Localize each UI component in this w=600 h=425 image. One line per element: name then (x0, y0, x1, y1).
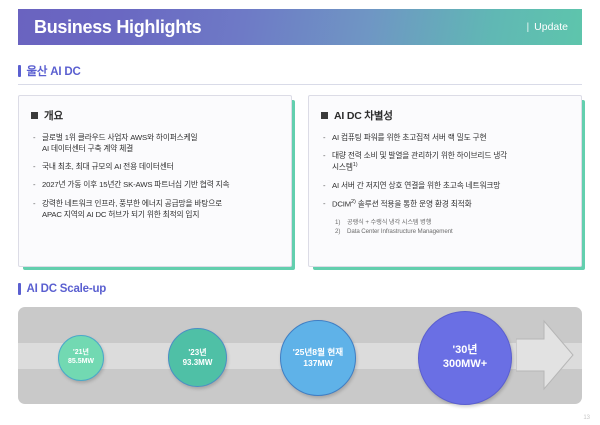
square-bullet-icon (321, 112, 328, 119)
section-heading-scaleup-label: AI DC Scale-up (27, 283, 107, 295)
card-overview: 개요 글로벌 1위 클라우드 사업자 AWS와 하이퍼스케일 AI 데이터센터 … (18, 95, 292, 267)
milestone-period: '23년 (188, 348, 206, 358)
cards-row: 개요 글로벌 1위 클라우드 사업자 AWS와 하이퍼스케일 AI 데이터센터 … (18, 95, 582, 267)
section-divider (18, 84, 582, 85)
bullet-line-1: 국내 최초, 최대 규모의 AI 전용 데이터센터 (42, 162, 174, 171)
bullet-line-2: AI 데이터센터 구축 계약 체결 (42, 143, 279, 154)
arrow-right-icon (516, 317, 574, 393)
scaleup-timeline: '21년 85.5MW '23년 93.3MW '25년8월 현재 137MW … (18, 307, 582, 404)
footnote-ref-1: 1) (353, 162, 358, 168)
section-ulsan-ai-dc: 울산 AI DC (18, 63, 582, 85)
section-heading-ulsan-label: 울산 AI DC (27, 63, 81, 79)
divider-glyph: | (526, 21, 529, 33)
heading-tick-icon (18, 283, 21, 295)
milestone-circle-4: '30년 300MW+ (418, 311, 512, 405)
card-differentiation-title: AI DC 차별성 (321, 108, 569, 123)
milestone-circle-1: '21년 85.5MW (58, 335, 104, 381)
card-differentiation: AI DC 차별성 AI 컴퓨팅 파워를 위한 초고집적 서버 랙 밀도 구현 … (308, 95, 582, 267)
update-badge: | Update (526, 21, 568, 33)
milestone-period: '21년 (73, 349, 89, 358)
heading-tick-icon (18, 65, 21, 77)
list-item: DCIM2) 솔루션 적용을 통한 운영 환경 최적화 (321, 198, 569, 210)
footnote-text: Data Center Infrastructure Management (347, 227, 453, 236)
bullet-line-1: AI 컴퓨팅 파워를 위한 초고집적 서버 랙 밀도 구현 (332, 133, 486, 142)
milestone-circle-2: '23년 93.3MW (168, 328, 227, 387)
milestone-capacity: 137MW (303, 358, 333, 369)
footnote-number: 1) (335, 218, 347, 227)
update-label: Update (534, 21, 568, 33)
bullet-line-1: 2027년 가동 이후 15년간 SK-AWS 파트너십 기반 협력 지속 (42, 180, 229, 189)
card-overview-title-label: 개요 (44, 108, 63, 123)
footnote-number: 2) (335, 227, 347, 236)
card-differentiation-bullet-list: AI 컴퓨팅 파워를 위한 초고집적 서버 랙 밀도 구현 대량 전력 소비 및… (321, 132, 569, 210)
bullet-line-2: 시스템 (332, 163, 353, 172)
card-overview-bullet-list: 글로벌 1위 클라우드 사업자 AWS와 하이퍼스케일 AI 데이터센터 구축 … (31, 132, 279, 220)
section-ai-dc-scale-up: AI DC Scale-up (18, 283, 582, 295)
milestone-capacity: 300MW+ (443, 358, 487, 372)
section-heading-scaleup: AI DC Scale-up (18, 283, 582, 295)
bullet-line-1-rest: 솔루션 적용을 통한 운영 환경 최적화 (356, 200, 472, 209)
milestone-capacity: 93.3MW (183, 358, 213, 368)
card-overview-title: 개요 (31, 108, 279, 123)
section-heading-ulsan: 울산 AI DC (18, 63, 582, 79)
card-differentiation-title-label: AI DC 차별성 (334, 108, 393, 123)
bullet-line-1: 대량 전력 소비 및 발열을 관리하기 위한 하이브리드 냉각 (332, 151, 507, 160)
bullet-line-1: 강력한 네트워크 인프라, 풍부한 에너지 공급망을 바탕으로 (42, 199, 222, 208)
milestone-circle-3: '25년8월 현재 137MW (280, 320, 356, 396)
bullet-line-1: DCIM (332, 200, 351, 209)
footnotes: 1) 공랭식 + 수랭식 냉각 시스템 병행 2) Data Center In… (321, 218, 569, 237)
footnote-text: 공랭식 + 수랭식 냉각 시스템 병행 (347, 218, 431, 227)
bullet-line-1: AI 서버 간 저지연 상호 연결을 위한 초고속 네트워크망 (332, 181, 500, 190)
page-number: 13 (583, 415, 590, 421)
list-item: 글로벌 1위 클라우드 사업자 AWS와 하이퍼스케일 AI 데이터센터 구축 … (31, 132, 279, 154)
list-item: AI 컴퓨팅 파워를 위한 초고집적 서버 랙 밀도 구현 (321, 132, 569, 143)
slide-title-bar: Business Highlights | Update (18, 9, 582, 45)
page-title: Business Highlights (34, 17, 201, 38)
bullet-line-1: 글로벌 1위 클라우드 사업자 AWS와 하이퍼스케일 (42, 133, 197, 142)
milestone-period: '30년 (453, 344, 478, 358)
square-bullet-icon (31, 112, 38, 119)
milestone-period: '25년8월 현재 (293, 347, 343, 358)
footnote-item: 2) Data Center Infrastructure Management (335, 227, 569, 236)
footnote-item: 1) 공랭식 + 수랭식 냉각 시스템 병행 (335, 218, 569, 227)
list-item: 대량 전력 소비 및 발열을 관리하기 위한 하이브리드 냉각 시스템1) (321, 150, 569, 173)
list-item: 2027년 가동 이후 15년간 SK-AWS 파트너십 기반 협력 지속 (31, 179, 279, 190)
milestone-capacity: 85.5MW (68, 358, 94, 367)
list-item: AI 서버 간 저지연 상호 연결을 위한 초고속 네트워크망 (321, 180, 569, 191)
bullet-line-2: APAC 지역의 AI DC 허브가 되기 위한 최적의 입지 (42, 209, 279, 220)
list-item: 국내 최초, 최대 규모의 AI 전용 데이터센터 (31, 161, 279, 172)
list-item: 강력한 네트워크 인프라, 풍부한 에너지 공급망을 바탕으로 APAC 지역의… (31, 198, 279, 220)
